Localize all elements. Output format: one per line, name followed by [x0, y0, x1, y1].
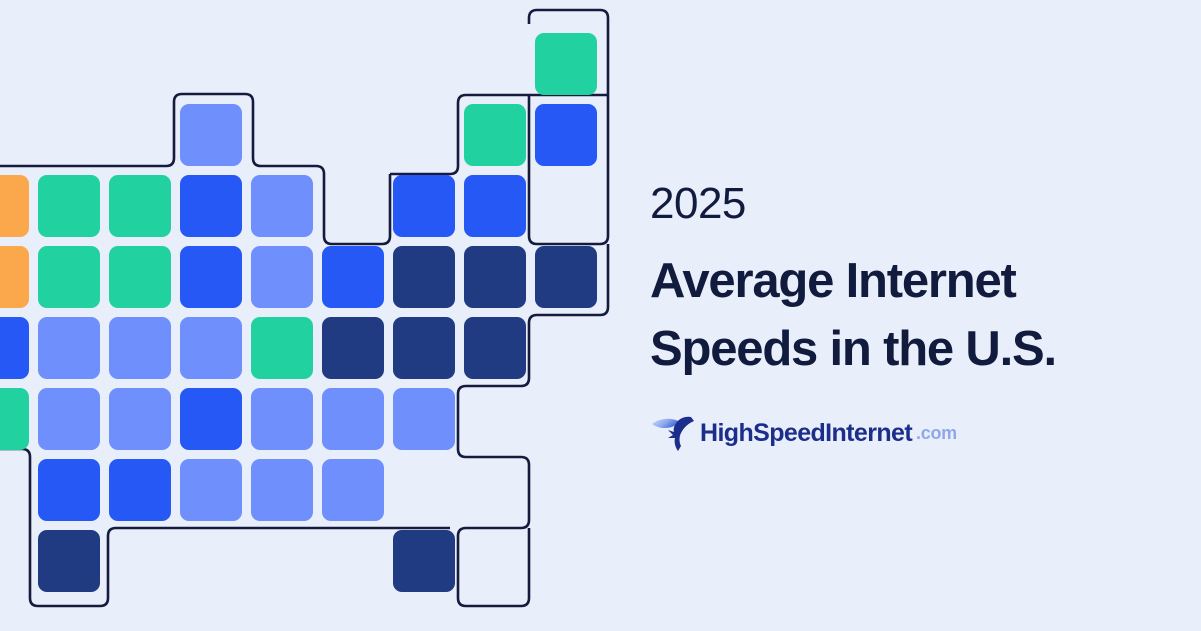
- map-tile-in: [251, 317, 313, 379]
- title-panel: 2025 Average Internet Speeds in the U.S.…: [650, 182, 1170, 453]
- hummingbird-icon: [650, 413, 696, 453]
- map-tile-va: [393, 388, 455, 450]
- map-tile-pa: [393, 246, 455, 308]
- us-tile-map: [0, 0, 640, 631]
- map-tile-co: [109, 388, 171, 450]
- map-tile-fl: [393, 530, 455, 592]
- map-tile-ma: [464, 175, 526, 237]
- map-tile-nd: [109, 175, 171, 237]
- map-tile-id: [38, 246, 100, 308]
- map-tile-wi: [251, 175, 313, 237]
- map-tile-nv: [38, 317, 100, 379]
- map-tile-vt: [464, 104, 526, 166]
- headline-line-1: Average Internet: [650, 248, 1170, 316]
- map-tile-hi: [0, 246, 29, 308]
- map-tile-ut: [38, 388, 100, 450]
- map-tile-tn: [322, 459, 384, 521]
- map-tile-ak: [0, 175, 29, 237]
- map-tile-or: [0, 317, 29, 379]
- map-tile-wy: [109, 317, 171, 379]
- map-tile-ny: [393, 175, 455, 237]
- map-tile-tx: [38, 530, 100, 592]
- map-tile-il: [251, 246, 313, 308]
- page-title: Average Internet Speeds in the U.S.: [650, 248, 1170, 383]
- map-tile-nm: [109, 459, 171, 521]
- logo-name: HighSpeedInternet: [700, 419, 912, 448]
- map-tile-wv: [322, 388, 384, 450]
- map-tile-de: [464, 317, 526, 379]
- map-tile-nh: [535, 104, 597, 166]
- map-tile-nj: [464, 246, 526, 308]
- map-tile-md: [393, 317, 455, 379]
- map-tile-me: [535, 33, 597, 95]
- map-tile-mt: [38, 175, 100, 237]
- headline-line-2: Speeds in the U.S.: [650, 316, 1170, 384]
- map-tile-oh: [322, 317, 384, 379]
- map-tile-wa: [180, 104, 242, 166]
- map-tile-ok: [180, 459, 242, 521]
- year-label: 2025: [650, 182, 1170, 226]
- map-tile-mi: [322, 246, 384, 308]
- map-tile-ks: [180, 388, 242, 450]
- map-tile-mn: [180, 175, 242, 237]
- map-tile-sd: [109, 246, 171, 308]
- map-tile-ca: [0, 388, 29, 450]
- map-tile-ct: [535, 246, 597, 308]
- infographic-canvas: 2025 Average Internet Speeds in the U.S.…: [0, 0, 1201, 631]
- map-tile-ar: [251, 459, 313, 521]
- logo-tld: .com: [916, 423, 957, 444]
- map-tile-az: [38, 459, 100, 521]
- map-tile-ky: [251, 388, 313, 450]
- map-tile-ia: [180, 246, 242, 308]
- map-tile-ne: [180, 317, 242, 379]
- brand-logo[interactable]: HighSpeedInternet.com: [650, 413, 1170, 453]
